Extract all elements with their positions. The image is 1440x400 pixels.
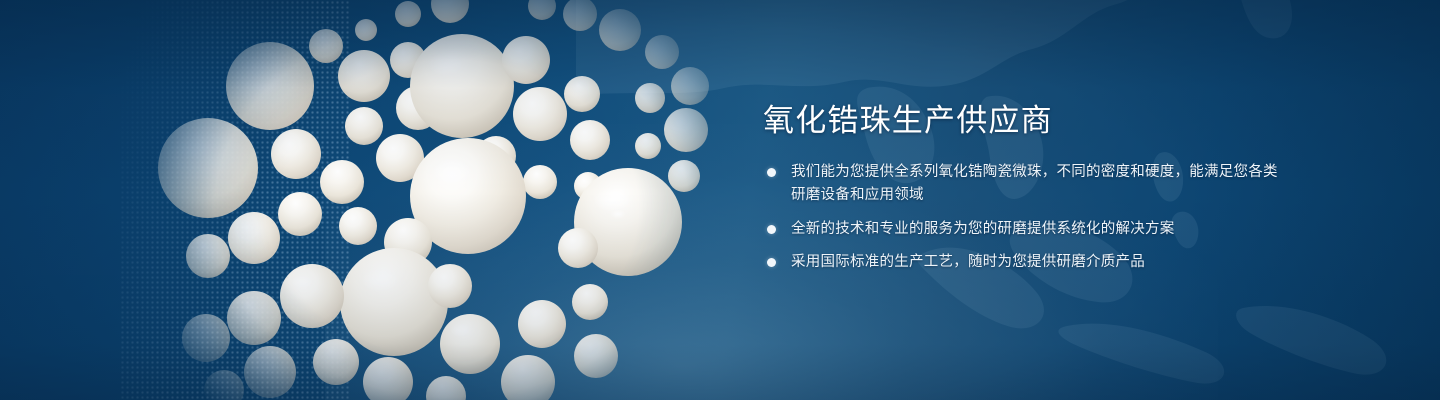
bullet-dot-icon bbox=[767, 258, 776, 267]
bullet-dot-icon bbox=[767, 225, 776, 234]
list-item: 我们能为您提供全系列氧化锆陶瓷微珠，不同的密度和硬度，能满足您各类研磨设备和应用… bbox=[763, 161, 1283, 208]
banner-headline: 氧化锆珠生产供应商 bbox=[763, 104, 1283, 139]
list-item-text: 全新的技术和专业的服务为您的研磨提供系统化的解决方案 bbox=[791, 221, 1175, 237]
list-item-text: 我们能为您提供全系列氧化锆陶瓷微珠，不同的密度和硬度，能满足您各类研磨设备和应用… bbox=[791, 164, 1278, 203]
banner-copy: 氧化锆珠生产供应商 我们能为您提供全系列氧化锆陶瓷微珠，不同的密度和硬度，能满足… bbox=[763, 104, 1283, 275]
feature-list: 我们能为您提供全系列氧化锆陶瓷微珠，不同的密度和硬度，能满足您各类研磨设备和应用… bbox=[763, 161, 1283, 275]
bullet-dot-icon bbox=[767, 168, 776, 177]
list-item: 全新的技术和专业的服务为您的研磨提供系统化的解决方案 bbox=[763, 218, 1283, 241]
hero-banner: 氧化锆珠生产供应商 我们能为您提供全系列氧化锆陶瓷微珠，不同的密度和硬度，能满足… bbox=[0, 0, 1440, 400]
list-item: 采用国际标准的生产工艺，随时为您提供研磨介质产品 bbox=[763, 251, 1283, 274]
list-item-text: 采用国际标准的生产工艺，随时为您提供研磨介质产品 bbox=[791, 254, 1145, 270]
zirconia-beads-image bbox=[150, 0, 730, 400]
